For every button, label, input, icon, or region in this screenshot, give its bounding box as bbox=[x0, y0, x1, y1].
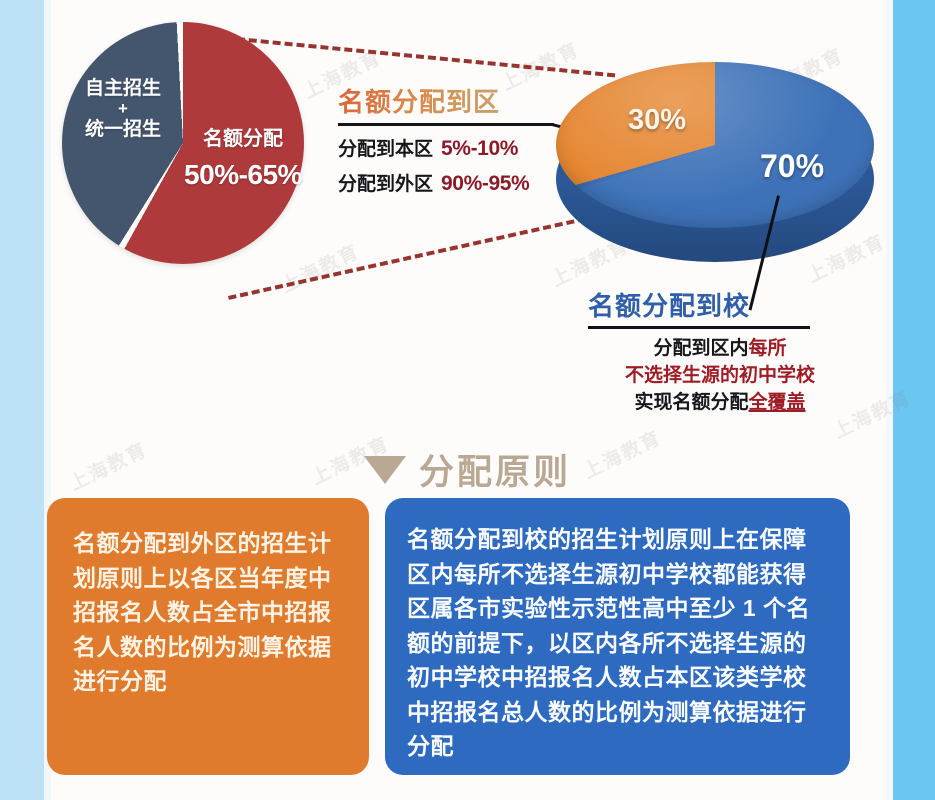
caption-line3-accent: 全覆盖 bbox=[749, 392, 806, 413]
to-district-row-value: 5%-10% bbox=[441, 137, 518, 161]
to-district-block: 名额分配到区 分配到本区 5%-10% 分配到外区 90%-95% bbox=[338, 82, 554, 196]
caption-line-1: 分配到区内每所 bbox=[560, 336, 880, 363]
to-district-underline bbox=[338, 123, 554, 126]
to-district-row-value: 90%-95% bbox=[441, 172, 529, 196]
right-border-band bbox=[893, 0, 935, 800]
caption-line-2: 不选择生源的初中学校 bbox=[560, 363, 880, 390]
pie-3d-top bbox=[556, 62, 874, 228]
section-title: 分配原则 bbox=[419, 444, 571, 495]
quota-distribution-3d-pie-chart bbox=[556, 62, 874, 274]
to-school-caption: 分配到区内每所 不选择生源的初中学校 实现名额分配全覆盖 bbox=[560, 336, 880, 417]
to-district-row-key: 分配到外区 bbox=[338, 169, 433, 196]
caption-line3-plain: 实现名额分配 bbox=[634, 392, 748, 413]
card-to-school-text: 名额分配到校的招生计划原则上在保障区内每所不选择生源初中学校都能获得区属各市实验… bbox=[407, 522, 828, 764]
pie-slice-value-quota: 50%-65% bbox=[172, 158, 314, 191]
infographic-canvas: 上海教育 上海教育 上海教育 上海教育 上海教育 上海教育 上海教育 上海教育 … bbox=[0, 0, 935, 800]
left-border-band bbox=[0, 0, 44, 800]
pie-slice-label-independent: 自主招生 + 统一招生 bbox=[68, 78, 178, 142]
slice-label-line1: 自主招生 bbox=[85, 78, 161, 99]
to-school-heading: 名额分配到校 bbox=[588, 286, 838, 323]
caption-line1-accent: 每所 bbox=[749, 338, 787, 359]
caption-line2-accent: 不选择生源的初中学校 bbox=[625, 365, 815, 386]
to-district-row: 分配到本区 5%-10% bbox=[338, 134, 554, 161]
caption-line-3: 实现名额分配全覆盖 bbox=[560, 390, 880, 417]
slice-label-line2: 统一招生 bbox=[85, 119, 161, 140]
pie-3d-value-school: 70% bbox=[760, 148, 824, 185]
right-border-gap bbox=[886, 0, 893, 800]
pie-slice-label-quota: 名额分配 bbox=[176, 128, 310, 152]
pie-3d-value-district: 30% bbox=[628, 104, 686, 137]
card-to-school: 名额分配到校的招生计划原则上在保障区内每所不选择生源初中学校都能获得区属各市实验… bbox=[385, 498, 850, 775]
triangle-down-icon bbox=[364, 456, 406, 484]
caption-line1-plain: 分配到区内 bbox=[653, 338, 748, 359]
card-outside-district-text: 名额分配到外区的招生计划原则上以各区当年度中招报名人数占全市中招报名人数的比例为… bbox=[73, 526, 343, 699]
to-school-underline bbox=[588, 326, 810, 329]
to-district-row-key: 分配到本区 bbox=[338, 134, 433, 161]
to-district-heading: 名额分配到区 bbox=[338, 82, 554, 119]
card-outside-district: 名额分配到外区的招生计划原则上以各区当年度中招报名人数占全市中招报名人数的比例为… bbox=[47, 498, 369, 775]
section-heading: 分配原则 bbox=[0, 444, 935, 495]
slice-label-plus: + bbox=[68, 100, 178, 119]
to-school-block: 名额分配到校 bbox=[588, 286, 838, 329]
to-district-row: 分配到外区 90%-95% bbox=[338, 169, 554, 196]
